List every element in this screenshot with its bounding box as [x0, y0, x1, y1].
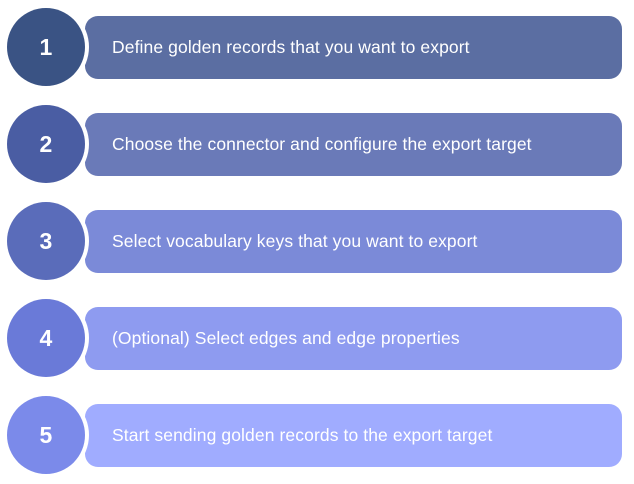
step-row[interactable]: (Optional) Select edges and edge propert… — [0, 290, 634, 387]
step-label: Choose the connector and configure the e… — [85, 136, 532, 154]
step-row[interactable]: Select vocabulary keys that you want to … — [0, 193, 634, 290]
step-bar[interactable]: Start sending golden records to the expo… — [85, 404, 622, 467]
step-circle[interactable]: 4 — [7, 299, 85, 377]
step-row[interactable]: Start sending golden records to the expo… — [0, 387, 634, 484]
step-label: (Optional) Select edges and edge propert… — [85, 330, 460, 348]
step-bar[interactable]: Select vocabulary keys that you want to … — [85, 210, 622, 273]
step-number: 5 — [39, 424, 52, 447]
step-circle[interactable]: 5 — [7, 396, 85, 474]
step-circle[interactable]: 3 — [7, 202, 85, 280]
step-circle[interactable]: 1 — [7, 8, 85, 86]
step-number: 1 — [39, 36, 52, 59]
step-row[interactable]: Define golden records that you want to e… — [0, 0, 634, 96]
step-bar[interactable]: (Optional) Select edges and edge propert… — [85, 307, 622, 370]
step-circle[interactable]: 2 — [7, 105, 85, 183]
steps-diagram: Define golden records that you want to e… — [0, 0, 634, 480]
step-bar[interactable]: Define golden records that you want to e… — [85, 16, 622, 79]
step-label: Start sending golden records to the expo… — [85, 427, 492, 445]
step-label: Select vocabulary keys that you want to … — [85, 233, 478, 251]
step-number: 2 — [39, 133, 52, 156]
step-row[interactable]: Choose the connector and configure the e… — [0, 96, 634, 193]
step-bar[interactable]: Choose the connector and configure the e… — [85, 113, 622, 176]
step-number: 3 — [39, 230, 52, 253]
step-label: Define golden records that you want to e… — [85, 39, 470, 57]
step-number: 4 — [39, 327, 52, 350]
